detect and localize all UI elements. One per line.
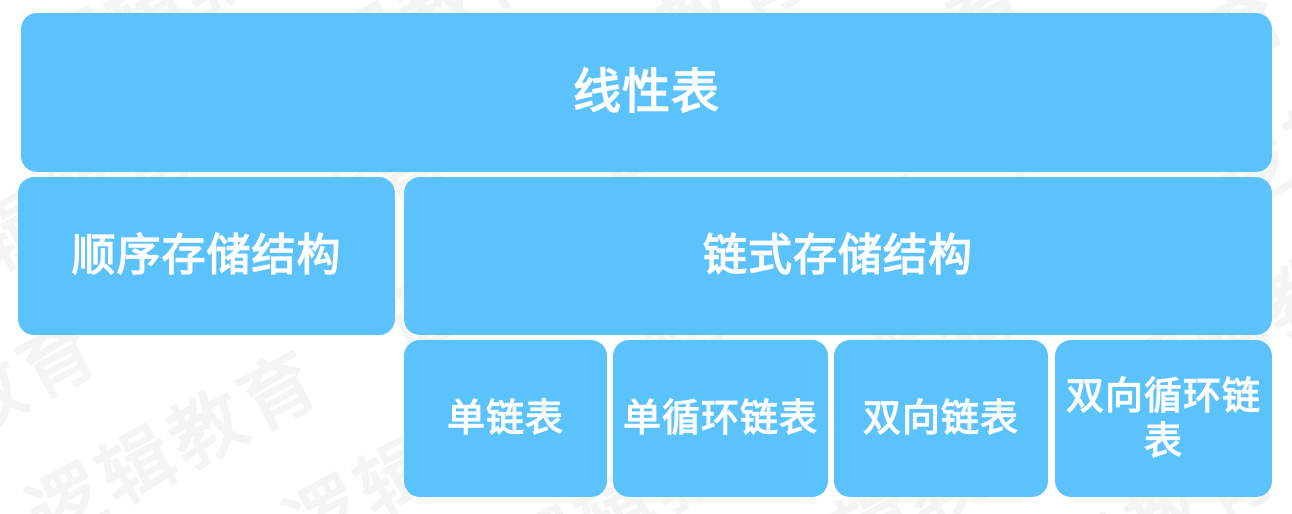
node-label: 双向链表 [857,396,1025,441]
node-singly-linked-list[interactable]: 单链表 [404,340,607,497]
watermark-text: 逻辑教育 [16,340,333,514]
node-linked-storage[interactable]: 链式存储结构 [404,177,1272,335]
node-label: 顺序存储结构 [66,230,348,282]
node-singly-circular-linked-list[interactable]: 单循环链表 [613,340,828,497]
node-label: 单链表 [441,396,570,441]
diagram-canvas: 逻辑教育 逻辑教育 逻辑教育 逻辑教育 逻辑教育 逻辑教育 逻辑教育 逻辑教育 … [0,0,1292,514]
node-label: 双向循环链表 [1055,374,1272,464]
node-label: 线性表 [567,64,726,121]
node-linear-list-root[interactable]: 线性表 [21,13,1272,172]
node-label: 链式存储结构 [697,230,979,282]
node-doubly-circular-linked-list[interactable]: 双向循环链表 [1055,340,1272,497]
node-doubly-linked-list[interactable]: 双向链表 [834,340,1048,497]
node-label: 单循环链表 [617,396,824,441]
watermark-text: 逻辑教育 [0,308,113,514]
node-sequential-storage[interactable]: 顺序存储结构 [18,177,395,335]
